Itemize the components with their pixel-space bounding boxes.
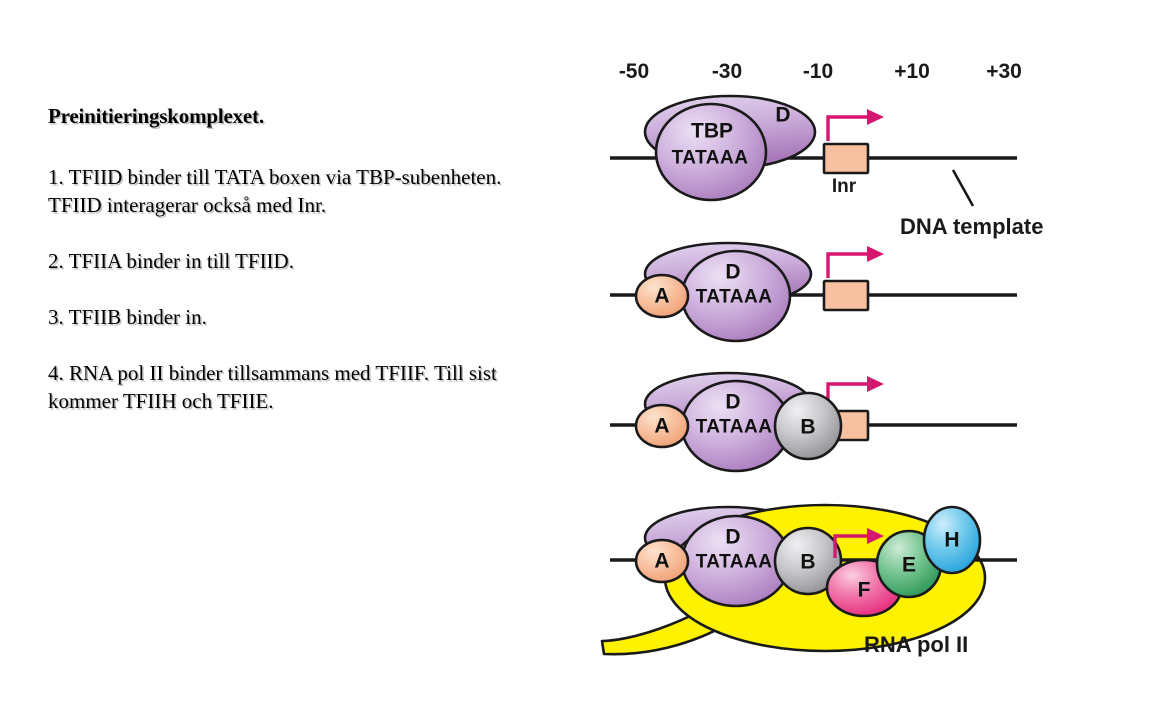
tfiia-label: A [654, 285, 669, 308]
tfiia-label: A [654, 550, 669, 573]
step-paragraph-1: 1. TFIID binder till TATA boxen via TBP-… [48, 163, 553, 219]
tfiie-label: E [902, 554, 916, 577]
tfiid-label: D [725, 391, 740, 414]
dna-template-label: DNA template [900, 214, 1043, 239]
rnapol-label: RNA pol II [864, 632, 968, 657]
panel-step-3: A D TATAAA B [610, 373, 1017, 471]
panel-step-2: A D TATAAA [610, 243, 1017, 341]
transcription-start-arrow [828, 254, 872, 278]
slide-text-panel: Preinitieringskomplexet. 1. TFIID binder… [48, 104, 553, 443]
tfiia-label: A [654, 415, 669, 438]
tfiid-label: D [775, 104, 790, 127]
tbp-label: TBP [691, 120, 733, 143]
transcription-start-arrow [828, 117, 872, 141]
step-paragraph-3: 3. TFIIB binder in. [48, 303, 553, 331]
step-paragraph-2: 2. TFIIA binder in till TFIID. [48, 247, 553, 275]
inr-box [824, 144, 868, 173]
inr-box [824, 281, 868, 310]
inr-label: Inr [832, 176, 857, 197]
tfiib-label: B [800, 416, 815, 439]
panel-step-4: A D TATAAA B F E H RNA pol II [602, 505, 1017, 657]
position-ruler: -50 -30 -10 +10 +30 [619, 60, 1022, 83]
tfiid-label: D [725, 526, 740, 549]
tata-box-label: TATAAA [696, 552, 773, 573]
preinitiation-complex-figure: -50 -30 -10 +10 +30 Inr TBP TATAAA D DNA… [596, 40, 1142, 680]
tata-box-label: TATAAA [696, 417, 773, 438]
tfiib-label: B [800, 551, 815, 574]
tfiid-label: D [725, 261, 740, 284]
transcription-start-arrowhead [867, 109, 884, 125]
ruler-tick--30: -30 [712, 60, 742, 83]
ruler-tick--50: -50 [619, 60, 649, 83]
ruler-tick--10: -10 [803, 60, 833, 83]
transcription-start-arrowhead [867, 376, 884, 392]
tata-box-label: TATAAA [696, 287, 773, 308]
tfiih-label: H [944, 529, 959, 552]
ruler-tick-+10: +10 [894, 60, 930, 83]
ruler-tick-+30: +30 [986, 60, 1022, 83]
dna-template-leader [953, 170, 973, 206]
transcription-start-arrowhead [867, 246, 884, 262]
tfiif-label: F [858, 579, 871, 602]
page-title: Preinitieringskomplexet. [48, 104, 553, 129]
panel-step-1: Inr TBP TATAAA D DNA template [610, 96, 1043, 239]
step-paragraph-4: 4. RNA pol II binder tillsammans med TFI… [48, 359, 553, 415]
tata-box-label: TATAAA [672, 148, 749, 169]
